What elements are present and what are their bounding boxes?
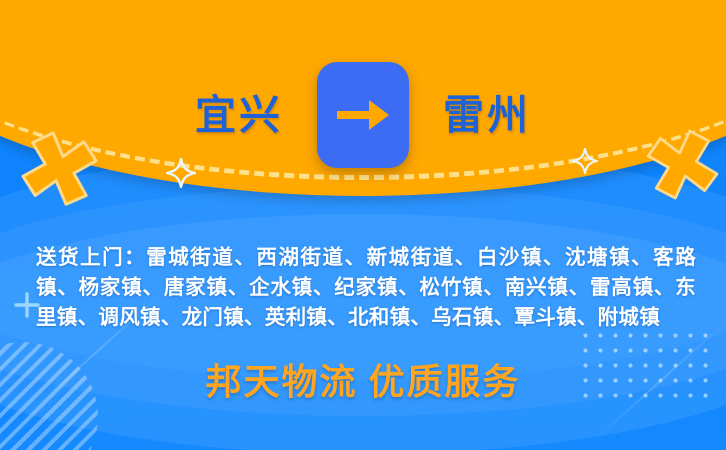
origin-city: 宜兴: [195, 95, 283, 136]
route-arrow-box: [317, 62, 409, 168]
company-slogan: 邦天物流 优质服务: [0, 362, 726, 403]
route-header: 宜兴 雷州: [0, 60, 726, 170]
destination-city: 雷州: [443, 95, 531, 136]
delivery-areas-text: 送货上门：雷城街道、西湖街道、新城街道、白沙镇、沈塘镇、客路镇、杨家镇、唐家镇、…: [36, 243, 696, 333]
logistics-route-banner: 宜兴 雷州 送货上门：雷城街道、西湖街道、新城街道、白沙镇、沈塘镇、客路镇、杨家…: [0, 0, 726, 450]
arrow-right-icon: [335, 95, 391, 135]
